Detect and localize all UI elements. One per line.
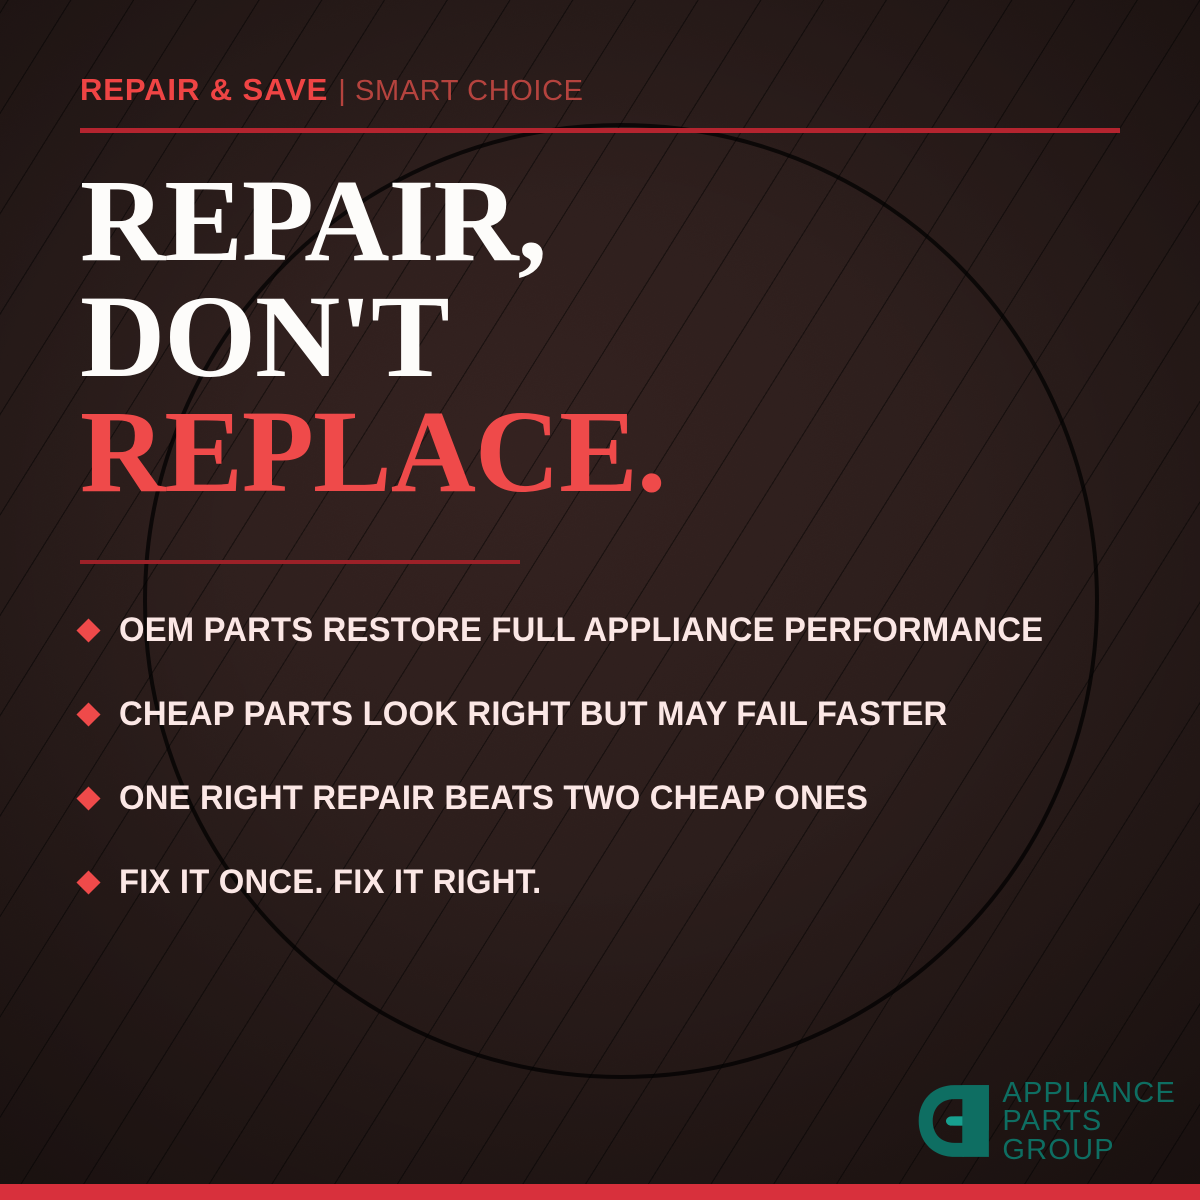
page-title: REPAIR, DON'T REPLACE.	[80, 163, 665, 510]
list-item-label: ONE RIGHT REPAIR BEATS TWO CHEAP ONES	[119, 779, 868, 818]
promo-poster: REPAIR & SAVE| SMART CHOICE REPAIR, DON'…	[0, 0, 1200, 1200]
diamond-bullet-icon	[76, 786, 100, 810]
benefit-list: OEM PARTS RESTORE FULL APPLIANCE PERFORM…	[80, 588, 1150, 924]
list-item: FIX IT ONCE. FIX IT RIGHT.	[80, 840, 1150, 924]
list-item-label: CHEAP PARTS LOOK RIGHT BUT MAY FAIL FAST…	[119, 695, 947, 734]
poster-content: REPAIR & SAVE| SMART CHOICE REPAIR, DON'…	[0, 0, 1200, 1200]
list-item-label: FIX IT ONCE. FIX IT RIGHT.	[119, 863, 541, 902]
headline-line-1: REPAIR,	[80, 163, 665, 279]
headline-line-3-accent: REPLACE.	[80, 394, 665, 510]
brand-logo-line-2: PARTS	[1002, 1107, 1176, 1135]
list-item: CHEAP PARTS LOOK RIGHT BUT MAY FAIL FAST…	[80, 672, 1150, 756]
brand-logo-wordmark: APPLIANCE PARTS GROUP	[1002, 1079, 1176, 1164]
list-item: OEM PARTS RESTORE FULL APPLIANCE PERFORM…	[80, 588, 1150, 672]
bottom-accent-bar	[0, 1184, 1200, 1200]
eyebrow: REPAIR & SAVE| SMART CHOICE	[80, 74, 584, 106]
brand-logo-line-1: APPLIANCE	[1002, 1079, 1176, 1107]
eyebrow-main-text: REPAIR & SAVE	[80, 72, 328, 107]
eyebrow-sub-text: | SMART CHOICE	[338, 75, 583, 107]
headline-line-2: DON'T	[80, 279, 665, 395]
list-item: ONE RIGHT REPAIR BEATS TWO CHEAP ONES	[80, 756, 1150, 840]
header-divider-rule	[80, 128, 1120, 133]
appliance-parts-group-g-mark-icon	[914, 1082, 992, 1160]
diamond-bullet-icon	[76, 870, 100, 894]
list-item-label: OEM PARTS RESTORE FULL APPLIANCE PERFORM…	[119, 611, 1043, 650]
headline-divider-rule	[80, 560, 520, 564]
diamond-bullet-icon	[76, 618, 100, 642]
brand-logo: APPLIANCE PARTS GROUP	[914, 1079, 1176, 1164]
diamond-bullet-icon	[76, 702, 100, 726]
brand-logo-line-3: GROUP	[1002, 1136, 1176, 1164]
